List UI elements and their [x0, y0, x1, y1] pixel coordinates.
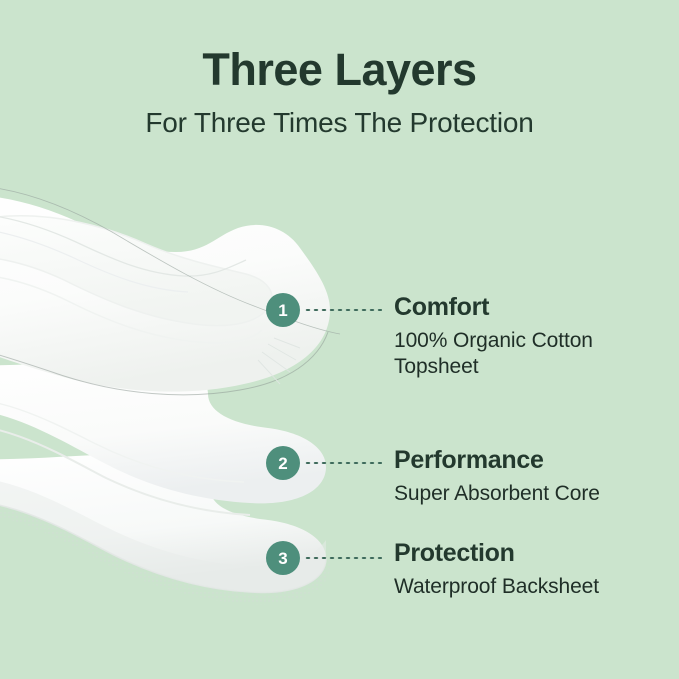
numbered-badge-icon: 1: [266, 293, 300, 327]
callout-title: Protection: [394, 539, 674, 568]
topsheet-layer: [0, 186, 340, 395]
dotted-connector-line: [304, 461, 382, 465]
dotted-connector-line: [304, 556, 382, 560]
dotted-connector-line: [304, 308, 382, 312]
numbered-badge-icon: 3: [266, 541, 300, 575]
page-subtitle: For Three Times The Protection: [0, 106, 679, 140]
callout-text-block: Protection Waterproof Backsheet: [394, 539, 674, 600]
callout-description: Super Absorbent Core: [394, 481, 674, 507]
page-title: Three Layers: [0, 44, 679, 96]
callout-text-block: Performance Super Absorbent Core: [394, 446, 674, 507]
heading-block: Three Layers For Three Times The Protect…: [0, 44, 679, 140]
callout-title: Performance: [394, 446, 674, 475]
callout-title: Comfort: [394, 293, 674, 322]
callout-description: 100% Organic Cotton Topsheet: [394, 328, 674, 380]
callout-text-block: Comfort 100% Organic Cotton Topsheet: [394, 293, 674, 380]
three-layers-infographic: Three Layers For Three Times The Protect…: [0, 0, 679, 679]
numbered-badge-icon: 2: [266, 446, 300, 480]
callout-description: Waterproof Backsheet: [394, 574, 674, 600]
